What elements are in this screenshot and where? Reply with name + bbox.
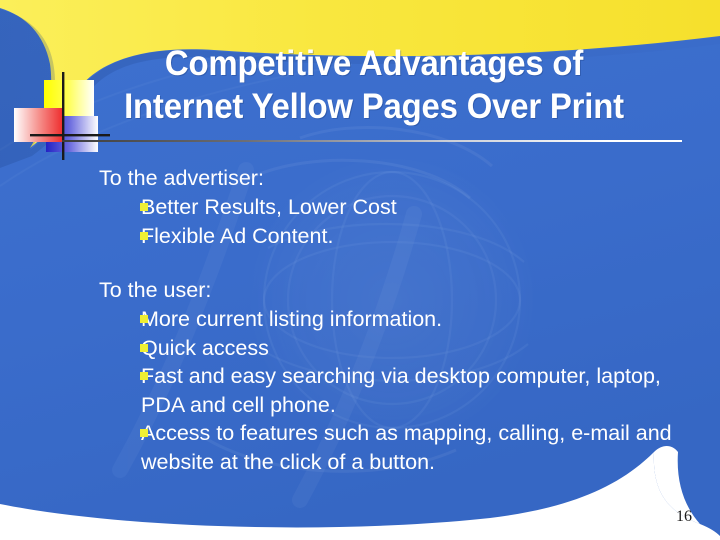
bullet-text: More current listing information.	[141, 305, 709, 334]
bullet-list: More current listing information. Quick …	[99, 305, 709, 476]
content-group-user: To the user: More current listing inform…	[99, 276, 709, 476]
content-group-advertiser: To the advertiser: Better Results, Lower…	[99, 164, 709, 250]
list-item: More current listing information.	[99, 305, 709, 334]
group-heading: To the advertiser:	[99, 164, 709, 193]
slide-body: To the advertiser: Better Results, Lower…	[99, 164, 709, 476]
bullet-square-icon	[140, 232, 148, 240]
bullet-text: Flexible Ad Content.	[141, 222, 709, 251]
group-spacer	[99, 250, 709, 276]
title-divider-rule	[62, 140, 682, 142]
list-item: Quick access	[99, 334, 709, 363]
group-heading: To the user:	[99, 276, 709, 305]
bullet-square-icon	[140, 203, 148, 211]
bullet-text: Access to features such as mapping, call…	[141, 419, 709, 476]
list-item: Flexible Ad Content.	[99, 222, 709, 251]
bullet-text: Fast and easy searching via desktop comp…	[141, 362, 709, 419]
bullet-list: Better Results, Lower Cost Flexible Ad C…	[99, 193, 709, 250]
list-item: Access to features such as mapping, call…	[99, 419, 709, 476]
list-item: Better Results, Lower Cost	[99, 193, 709, 222]
list-item: Fast and easy searching via desktop comp…	[99, 362, 709, 419]
slide-title-line-2: Internet Yellow Pages Over Print	[83, 85, 666, 128]
bullet-square-icon	[140, 344, 148, 352]
bullet-square-icon	[140, 372, 148, 380]
slide-title: Competitive Advantages of Internet Yello…	[64, 42, 684, 128]
page-number: 16	[0, 508, 692, 526]
slide-title-line-1: Competitive Advantages of	[83, 42, 666, 85]
bullet-square-icon	[140, 429, 148, 437]
logo-crosshair-horizontal	[30, 134, 110, 136]
bullet-text: Quick access	[141, 334, 709, 363]
slide-canvas: Competitive Advantages of Internet Yello…	[0, 0, 720, 540]
bullet-text: Better Results, Lower Cost	[141, 193, 709, 222]
logo-red-square	[14, 108, 62, 142]
bullet-square-icon	[140, 315, 148, 323]
